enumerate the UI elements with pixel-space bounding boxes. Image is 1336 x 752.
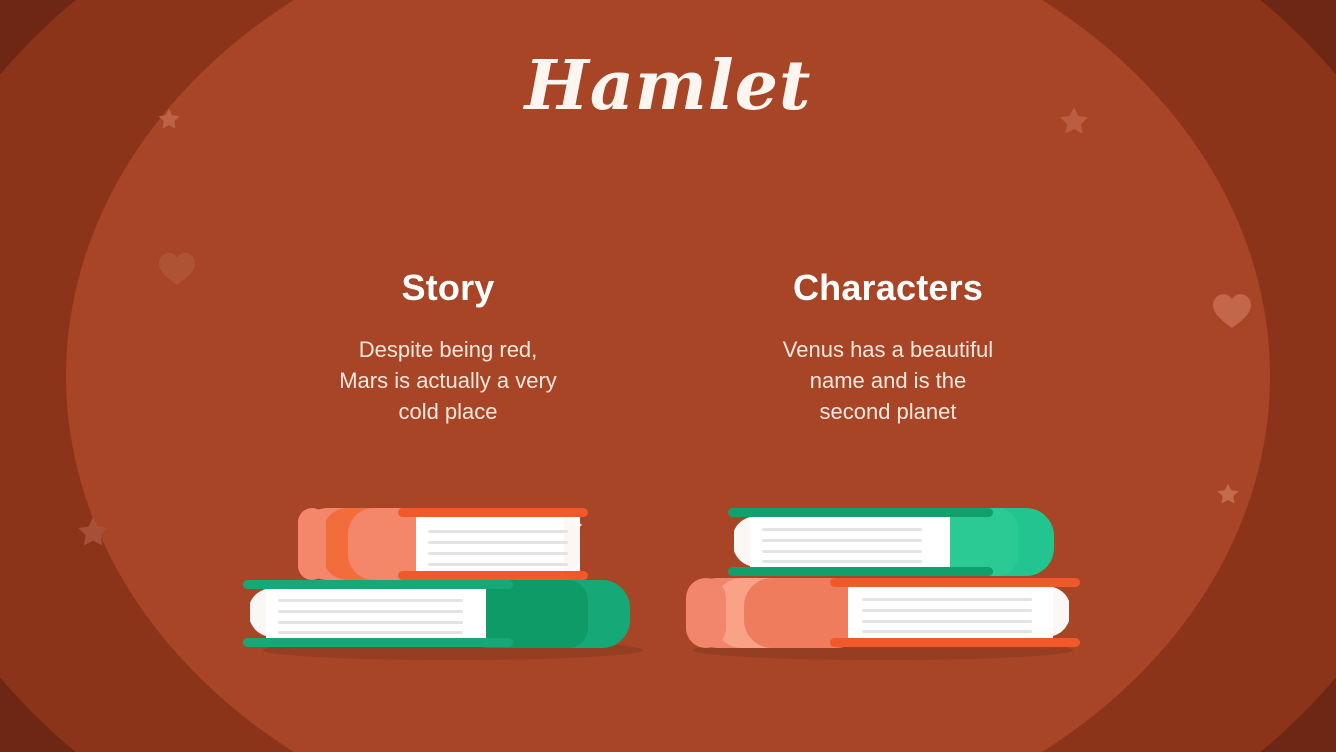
page-title: Hamlet <box>0 52 1336 120</box>
illustrations-container <box>0 486 1336 666</box>
column-body-text: Venus has a beautiful name and is the se… <box>668 334 1108 427</box>
column-characters: Characters Venus has a beautiful name an… <box>668 268 1108 427</box>
column-body-text: Despite being red, Mars is actually a ve… <box>228 334 668 427</box>
book-stack-green-over-salmon-illustration <box>678 486 1098 666</box>
slide-canvas: Hamlet Story Despite being red, Mars is … <box>0 0 1336 752</box>
book-stack-right <box>668 486 1108 666</box>
book-green-top <box>728 508 1054 576</box>
column-heading: Story <box>228 268 668 308</box>
book-salmon-bottom <box>686 578 1080 648</box>
column-story: Story Despite being red, Mars is actuall… <box>228 268 668 427</box>
columns-container: Story Despite being red, Mars is actuall… <box>0 268 1336 427</box>
book-stack-orange-over-green-illustration <box>238 486 658 666</box>
book-stack-left <box>228 486 668 666</box>
column-heading: Characters <box>668 268 1108 308</box>
book-orange-top <box>298 508 588 580</box>
book-green-bottom <box>243 580 630 648</box>
